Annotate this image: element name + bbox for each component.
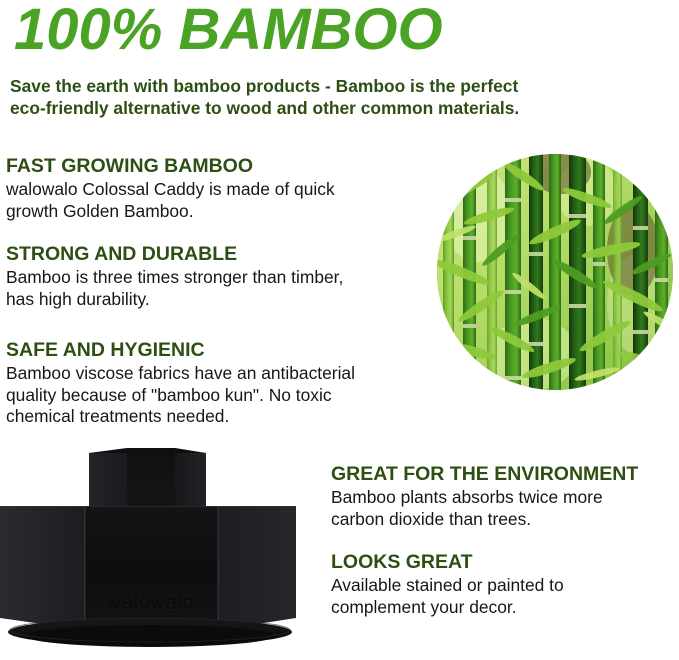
feature-heading-fast-growing: FAST GROWING BAMBOO [6,155,436,178]
feature-body-line: chemical treatments needed. [6,406,436,428]
product-base [8,618,292,647]
feature-body-line: Bamboo is three times stronger than timb… [6,267,436,289]
feature-body-fast-growing: walowalo Colossal Caddy is made of quick… [6,179,436,222]
feature-body-looks-great: Available stained or painted to compleme… [331,575,675,618]
masthead-subtitle-line-1: Save the earth with bamboo products - Ba… [10,76,674,98]
masthead-subtitle-line-2: eco-friendly alternative to wood and oth… [10,98,674,120]
feature-strong-and-durable: STRONG AND DURABLE Bamboo is three times… [6,243,436,310]
feature-body-line: has high durability. [6,289,436,311]
feature-fast-growing-bamboo: FAST GROWING BAMBOO walowalo Colossal Ca… [6,155,436,222]
infographic-canvas: 100% BAMBOO Save the earth with bamboo p… [0,0,679,660]
masthead-subtitle: Save the earth with bamboo products - Ba… [10,76,674,119]
feature-heading-environment: GREAT FOR THE ENVIRONMENT [331,463,675,486]
feature-body-safe-hygienic: Bamboo viscose fabrics have an antibacte… [6,363,436,428]
product-logo-text-shadow: walowalo [106,593,195,614]
feature-safe-and-hygienic: SAFE AND HYGIENIC Bamboo viscose fabrics… [6,339,436,428]
product-illustration: walowalo walowalo [0,440,305,660]
bamboo-grove-illustration [437,154,673,390]
feature-heading-safe-hygienic: SAFE AND HYGIENIC [6,339,436,362]
feature-body-line: complement your decor. [331,597,675,619]
feature-body-line: Bamboo viscose fabrics have an antibacte… [6,363,436,385]
feature-body-line: quality because of "bamboo kun". No toxi… [6,385,436,407]
feature-looks-great: LOOKS GREAT Available stained or painted… [331,551,675,618]
feature-body-environment: Bamboo plants absorbs twice more carbon … [331,487,675,530]
feature-body-line: Available stained or painted to [331,575,675,597]
feature-body-line: Bamboo plants absorbs twice more [331,487,675,509]
feature-body-line: carbon dioxide than trees. [331,509,675,531]
feature-body-line: growth Golden Bamboo. [6,201,436,223]
feature-great-for-the-environment: GREAT FOR THE ENVIRONMENT Bamboo plants … [331,463,675,530]
feature-body-line: walowalo Colossal Caddy is made of quick [6,179,436,201]
feature-heading-looks-great: LOOKS GREAT [331,551,675,574]
product-image: walowalo walowalo [0,440,305,660]
product-top-cap [89,448,206,513]
page-title: 100% BAMBOO [14,0,443,63]
bamboo-grove-image [437,154,673,390]
feature-heading-strong-durable: STRONG AND DURABLE [6,243,436,266]
feature-body-strong-durable: Bamboo is three times stronger than timb… [6,267,436,310]
